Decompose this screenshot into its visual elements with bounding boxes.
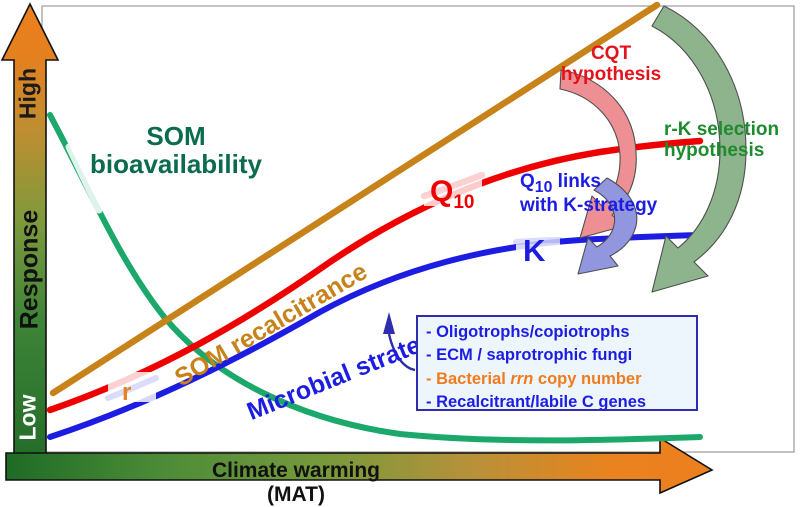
legend-bullet-4: -: [426, 393, 432, 411]
legend-text-3-italic: rrn: [510, 370, 533, 388]
diagram-svg: [0, 0, 800, 495]
legend-item-oligotrophs: - Oligotrophs/copiotrophs: [426, 321, 690, 344]
hypothesis-label-rk-selection: r-K selection hypothesis: [664, 120, 800, 161]
legend-text-3-post: copy number: [533, 370, 641, 388]
q10-subscript: 10: [453, 192, 474, 213]
curve-endpoint-label-q10: Q10: [430, 176, 474, 214]
legend-bullet-1: -: [426, 323, 432, 341]
legend-bullet-2: -: [426, 346, 432, 364]
legend-box: - Oligotrophs/copiotrophs - ECM / saprot…: [416, 315, 698, 411]
legend-text-4: Recalcitrant/labile C genes: [436, 393, 646, 411]
rk-line2: hypothesis: [664, 140, 764, 161]
q10-main: Q: [430, 175, 453, 208]
legend-item-recalcitrant-labile-c-genes: - Recalcitrant/labile C genes: [426, 391, 690, 414]
q10links-line1-main: Q: [520, 171, 535, 192]
figure-canvas: High Response Low Climate warming (MAT) …: [0, 0, 800, 495]
hypothesis-label-cqt: CQT hypothesis: [556, 44, 666, 85]
som-bioavailability-line1: SOM: [146, 121, 205, 151]
y-axis-title: Response: [16, 210, 45, 330]
y-axis-high-label: High: [15, 64, 42, 124]
legend-item-ecm-fungi: - ECM / saprotrophic fungi: [426, 344, 690, 367]
curve-endpoint-label-k: K: [523, 234, 545, 267]
legend-text-3-pre: Bacterial: [436, 370, 510, 388]
curve-start-label-r: r: [122, 380, 131, 406]
cqt-line1: CQT: [591, 43, 631, 64]
q10links-line1-sub: 10: [535, 179, 553, 196]
legend-item-rrn-copy-number: - Bacterial rrn copy number: [426, 368, 690, 391]
x-axis-title: Climate warming (MAT): [196, 459, 396, 507]
legend-text-1: Oligotrophs/copiotrophs: [436, 323, 629, 341]
y-axis-low-label: Low: [15, 386, 42, 450]
legend-text-2: ECM / saprotrophic fungi: [436, 346, 632, 364]
rk-line1: r-K selection: [664, 119, 779, 140]
cqt-line2: hypothesis: [561, 64, 661, 85]
q10links-line1-tail: links: [552, 171, 601, 192]
curve-label-som-bioavailability: SOM bioavailability: [86, 122, 266, 178]
q10links-line2: with K-strategy: [520, 195, 657, 216]
som-bioavailability-line2: bioavailability: [90, 149, 262, 179]
legend-bullet-3: -: [426, 370, 432, 388]
hypothesis-label-q10-k-strategy: Q10 links with K-strategy: [520, 172, 672, 216]
